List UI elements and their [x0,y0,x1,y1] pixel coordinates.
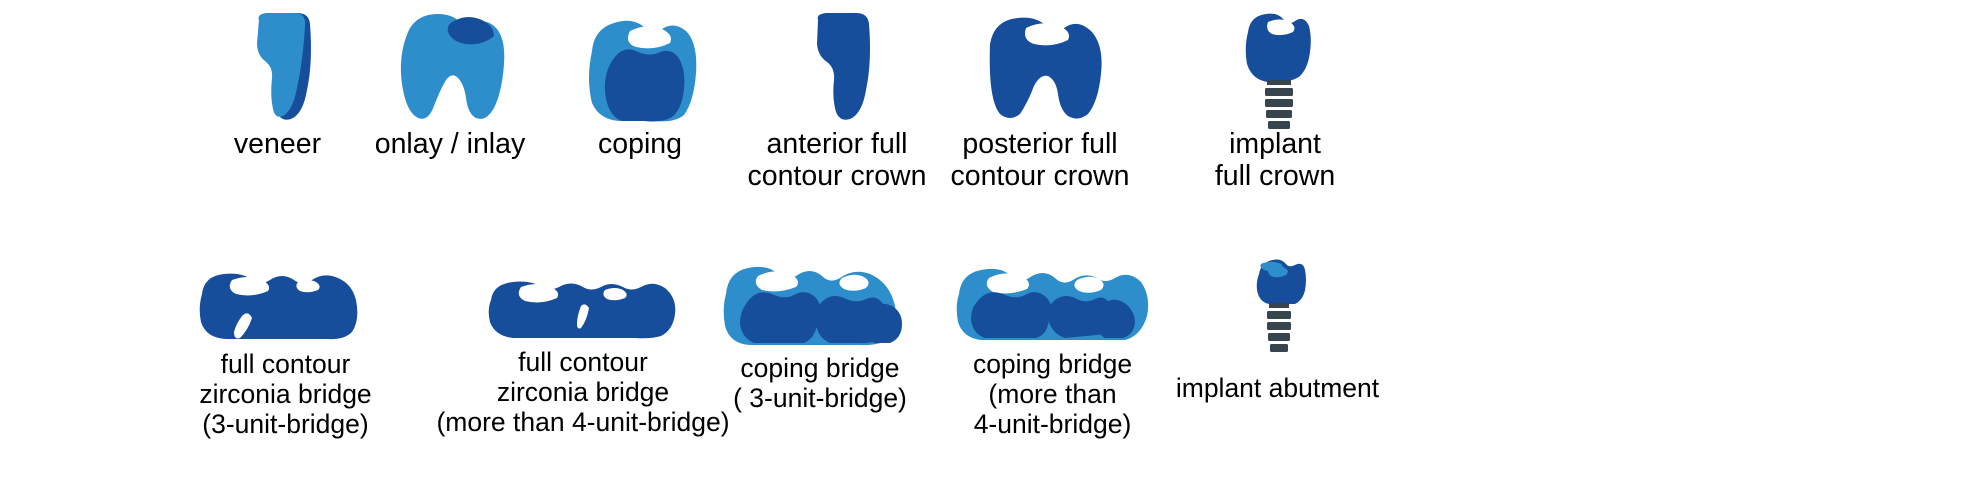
diagram-item-label: posterior full contour crown [950,128,1129,193]
diagram-item-label: coping [598,128,682,160]
diagram-item-anterior-full-contour-crown[interactable]: anterior full contour crown [722,12,952,193]
coping-bridge-3-unit-icon [720,258,920,346]
diagram-item-coping[interactable]: coping [540,12,740,160]
diagram-item-full-contour-zirconia-bridge-4plus[interactable]: full contour zirconia bridge (more than … [418,272,748,438]
diagram-item-label: coping bridge ( 3-unit-bridge) [733,353,907,413]
diagram-item-label: anterior full contour crown [747,128,926,193]
coping-bridge-4plus-icon [953,262,1153,342]
coping-tooth-icon [578,12,703,122]
full-contour-zirconia-bridge-3-unit-icon [196,270,376,342]
diagram-item-coping-bridge-3-unit[interactable]: coping bridge ( 3-unit-bridge) [700,258,940,413]
diagram-item-implant-abutment[interactable]: implant abutment [1160,258,1395,403]
diagram-item-coping-bridge-4plus[interactable]: coping bridge (more than 4-unit-bridge) [940,262,1165,440]
diagram-item-label: veneer [234,128,321,160]
diagram-item-label: coping bridge (more than 4-unit-bridge) [973,349,1132,440]
posterior-full-contour-crown-icon [974,12,1106,122]
onlay-inlay-tooth-icon [390,12,510,122]
veneer-tooth-icon [235,12,321,122]
diagram-item-label: full contour zirconia bridge (3-unit-bri… [199,349,371,440]
implant-abutment-icon [1247,258,1309,366]
diagram-item-label: implant full crown [1215,128,1335,193]
diagram-item-onlay-inlay[interactable]: onlay / inlay [355,12,545,160]
diagram-item-label: implant abutment [1176,373,1379,403]
diagram-item-veneer[interactable]: veneer [185,12,370,160]
diagram-item-posterior-full-contour-crown[interactable]: posterior full contour crown [925,12,1155,193]
anterior-full-contour-crown-icon [794,12,880,122]
implant-full-crown-icon [1238,12,1312,122]
diagram-item-label: full contour zirconia bridge (more than … [436,347,729,438]
diagram-item-label: onlay / inlay [375,128,526,160]
dental-restoration-diagram: veneer onlay / inlay coping ante [0,0,1980,503]
diagram-item-implant-full-crown[interactable]: implant full crown [1160,12,1390,193]
full-contour-zirconia-bridge-4plus-icon [485,272,681,340]
diagram-item-full-contour-zirconia-bridge-3-unit[interactable]: full contour zirconia bridge (3-unit-bri… [178,270,393,440]
